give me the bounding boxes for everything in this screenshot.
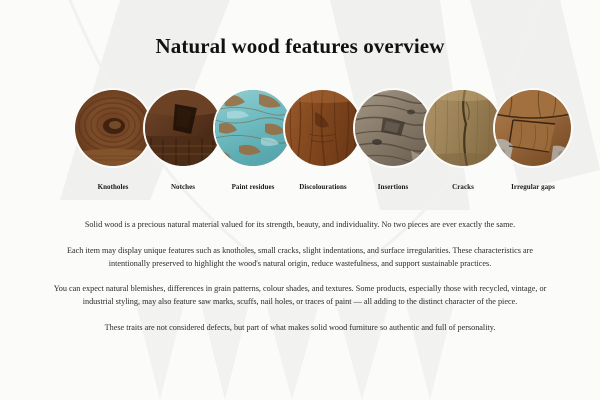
document-page: Natural wood features overview [0,0,600,400]
wood-sample-insertions [353,88,433,168]
paragraph-4: These traits are not considered defects,… [50,321,550,334]
label-irregular-gaps: Irregular gaps [488,183,578,191]
wood-sample-notches [143,88,223,168]
wood-sample-strip [0,88,600,178]
wood-sample-paint-residues [213,88,293,168]
paragraph-2: Each item may display unique features su… [50,244,550,270]
wood-sample-labels: Knotholes Notches Paint residues Discolo… [0,183,600,195]
paragraph-3: You can expect natural blemishes, differ… [50,282,550,308]
page-title: Natural wood features overview [0,34,600,59]
paragraph-1: Solid wood is a precious natural materia… [50,218,550,231]
wood-sample-irregular-gaps [493,88,573,168]
wood-sample-discolourations [283,88,363,168]
wood-sample-cracks [423,88,503,168]
body-copy: Solid wood is a precious natural materia… [50,218,550,334]
wood-sample-knotholes [73,88,153,168]
